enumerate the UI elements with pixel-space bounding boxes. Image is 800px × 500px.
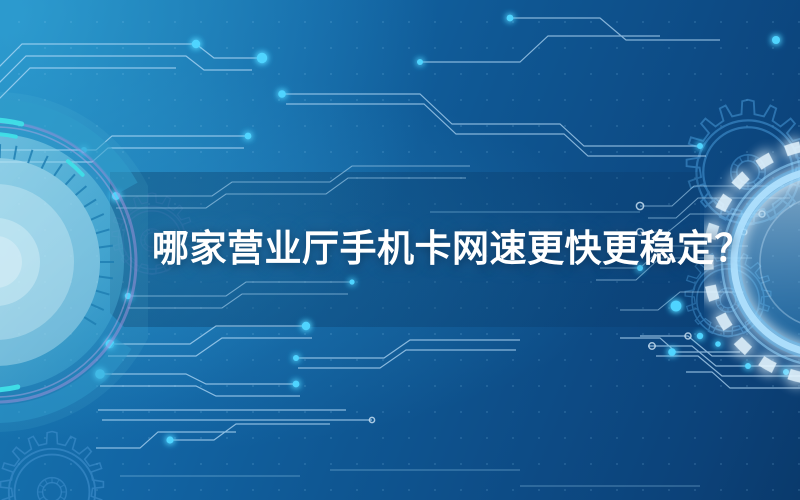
banner-title: 哪家营业厅手机卡网速更快更稳定？ — [152, 226, 712, 272]
banner-image: 哪家营业厅手机卡网速更快更稳定？ — [0, 0, 800, 500]
